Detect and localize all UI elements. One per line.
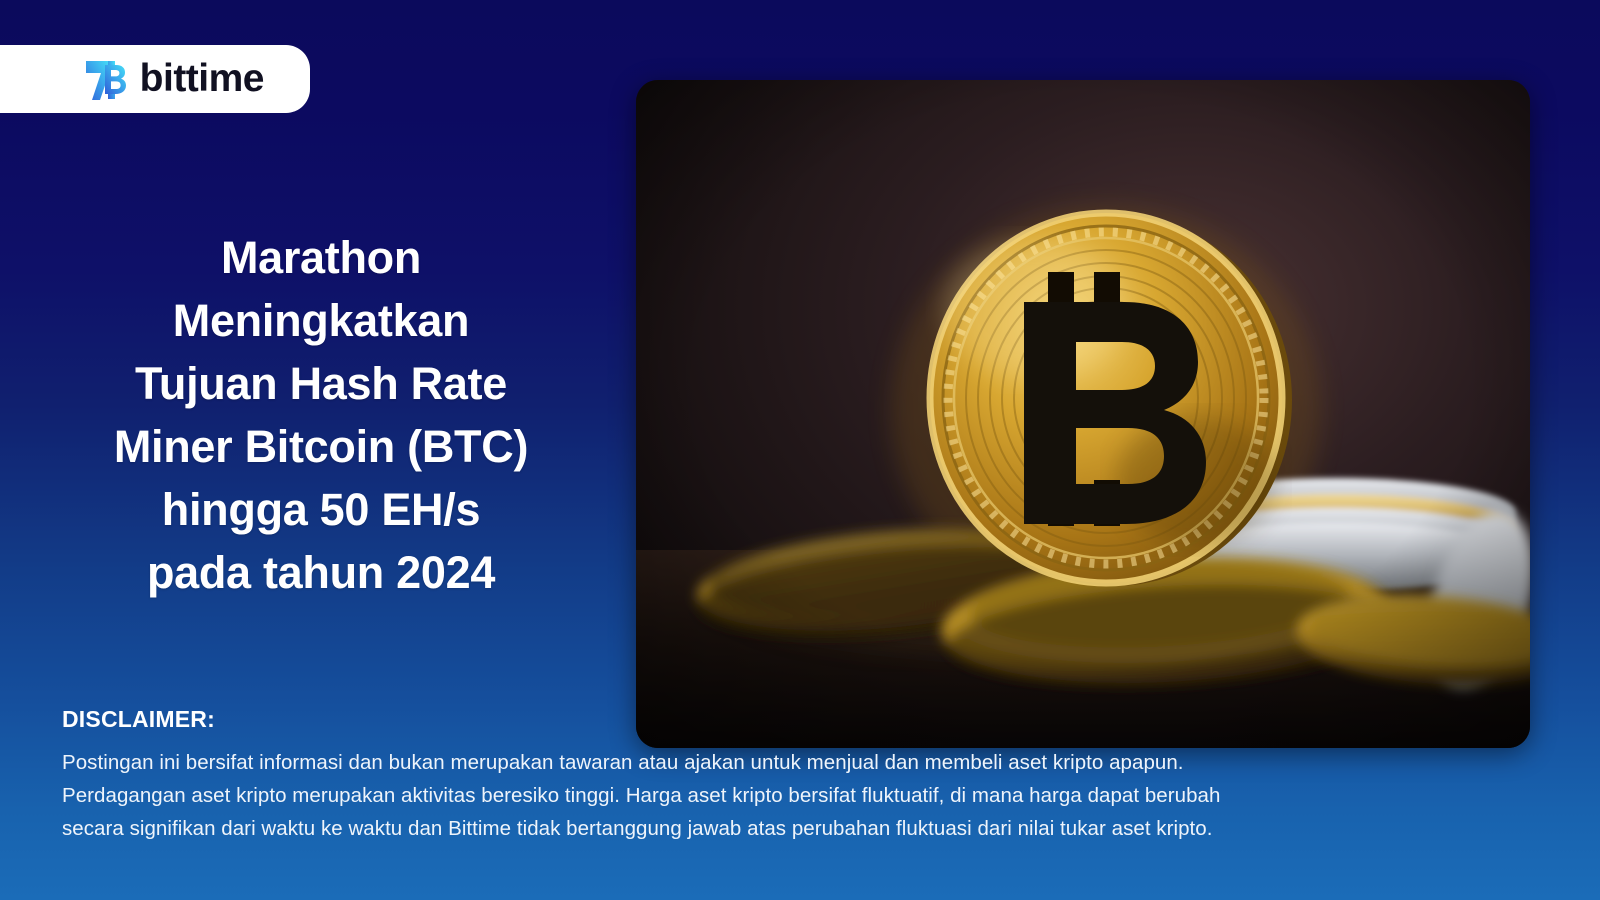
disclaimer-line-2: Perdagangan aset kripto merupakan aktivi… (62, 779, 1482, 812)
bitcoin-coins-photo (636, 80, 1530, 748)
disclaimer-line-3: secara signifikan dari waktu ke waktu da… (62, 812, 1482, 845)
bittime-7b-monogram-icon (84, 56, 126, 102)
promo-banner: bittime Marathon Meningkatkan Tujuan Has… (0, 0, 1600, 900)
disclaimer-body: Postingan ini bersifat informasi dan buk… (62, 746, 1482, 846)
headline-line-6: pada tahun 2024 (88, 541, 554, 604)
brand-logo-badge[interactable]: bittime (0, 45, 310, 113)
brand-wordmark: bittime (140, 59, 264, 100)
disclaimer-title: DISCLAIMER: (62, 706, 1482, 733)
headline-line-3: Tujuan Hash Rate (88, 352, 554, 415)
headline-line-5: hingga 50 EH/s (88, 478, 554, 541)
headline-line-1: Marathon (88, 226, 554, 289)
headline-line-4: Miner Bitcoin (BTC) (88, 415, 554, 478)
disclaimer-line-1: Postingan ini bersifat informasi dan buk… (62, 746, 1482, 779)
headline: Marathon Meningkatkan Tujuan Hash Rate M… (88, 226, 554, 604)
disclaimer-block: DISCLAIMER: Postingan ini bersifat infor… (62, 706, 1482, 846)
headline-line-2: Meningkatkan (88, 289, 554, 352)
